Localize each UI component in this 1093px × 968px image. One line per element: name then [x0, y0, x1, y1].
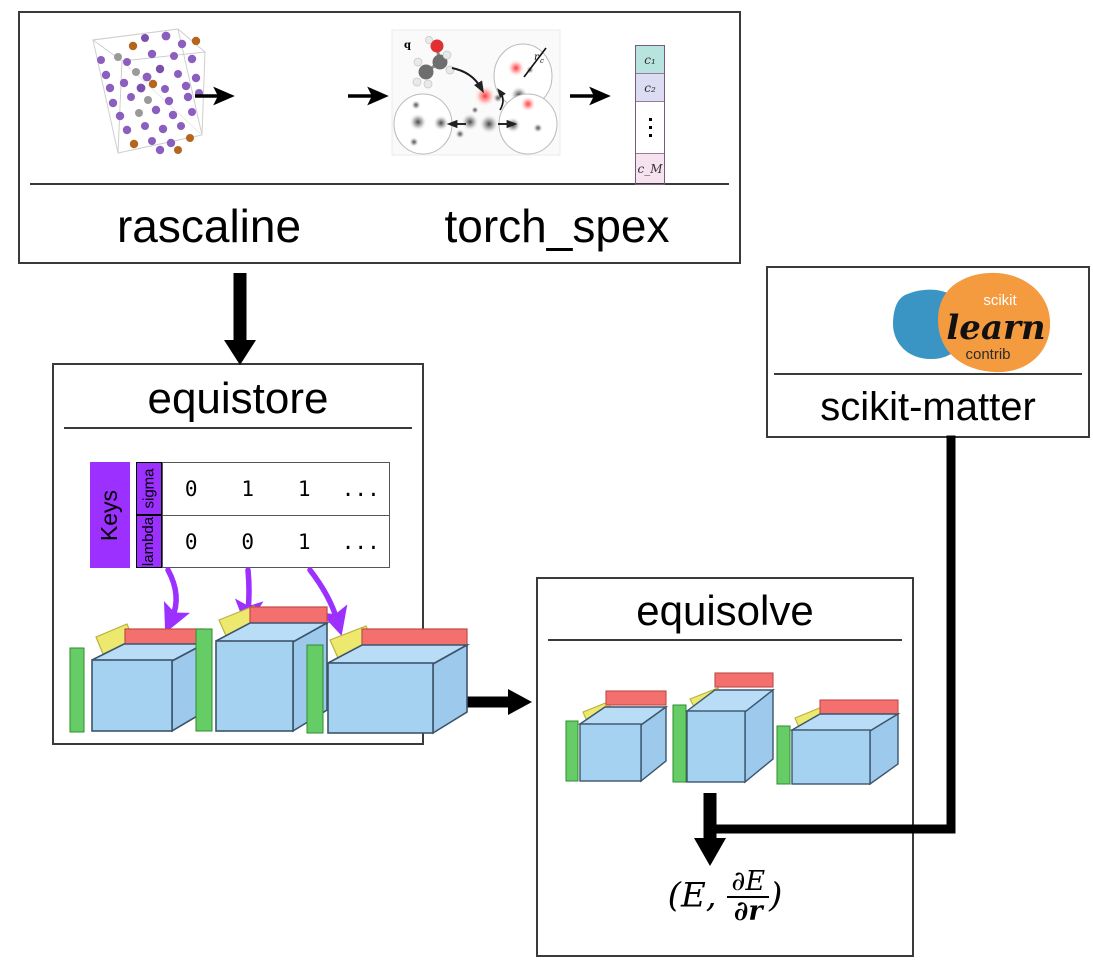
arrow-rascaline-to-equistore: [224, 273, 256, 365]
package-label-equisolve[interactable]: equisolve: [538, 586, 912, 636]
row-label-lambda-text: lambda: [141, 517, 158, 566]
keys-label-text: Keys: [97, 489, 124, 540]
keys-row-sigma: 0 1 1 ...: [162, 462, 390, 515]
keys-cell: 0: [163, 530, 220, 554]
divider-equistore: [64, 427, 412, 429]
keys-row-lambda: 0 0 1 ...: [162, 515, 390, 568]
package-label-scikit-matter[interactable]: scikit-matter: [768, 381, 1088, 433]
diagram-canvas: rascaline torch_spex c₁ c₂ c_M equistore…: [0, 0, 1093, 968]
output-formula: (E, ∂E∂r): [536, 868, 914, 927]
coefficient-c2: c₂: [636, 74, 664, 102]
keys-cell: ...: [333, 477, 390, 501]
formula-energy: E: [681, 875, 706, 915]
coefficient-c1: c₁: [636, 46, 664, 74]
keys-cell: 1: [276, 530, 333, 554]
divider-equisolve: [548, 639, 902, 641]
row-label-sigma: sigma: [136, 462, 162, 515]
top-box-labels: rascaline torch_spex: [20, 195, 739, 263]
row-label-lambda: lambda: [136, 515, 162, 568]
package-label-rascaline[interactable]: rascaline: [64, 195, 354, 257]
keys-cell: 0: [163, 477, 220, 501]
package-label-torch-spex[interactable]: torch_spex: [392, 195, 722, 257]
formula-denominator: ∂r: [727, 898, 769, 926]
divider-top-box: [30, 183, 729, 185]
formula-paren-close: ): [769, 875, 782, 915]
keys-table[interactable]: Keys sigma lambda 0 1 1 ... 0 0 1 ...: [90, 462, 390, 568]
keys-cell: ...: [333, 530, 390, 554]
keys-cell: 1: [276, 477, 333, 501]
coefficient-ellipsis: [636, 102, 664, 154]
row-label-sigma-text: sigma: [141, 468, 158, 508]
package-box-rascaline-torchspex[interactable]: rascaline torch_spex c₁ c₂ c_M: [18, 11, 741, 264]
coefficient-cM: c_M: [636, 154, 664, 183]
keys-cell: 0: [220, 530, 277, 554]
package-label-equistore[interactable]: equistore: [54, 373, 422, 425]
formula-paren-open: (: [668, 875, 681, 915]
keys-cell: 1: [220, 477, 277, 501]
package-box-scikit-matter[interactable]: scikit-matter: [766, 266, 1090, 438]
formula-comma: ,: [706, 875, 717, 915]
keys-label-block: Keys: [90, 462, 130, 568]
formula-derivative: ∂E∂r: [727, 868, 769, 927]
arrow-equistore-to-equisolve: [431, 689, 532, 715]
formula-numerator: ∂E: [727, 868, 769, 898]
divider-scikit-matter: [774, 373, 1082, 375]
coefficient-vector: c₁ c₂ c_M: [635, 45, 665, 185]
